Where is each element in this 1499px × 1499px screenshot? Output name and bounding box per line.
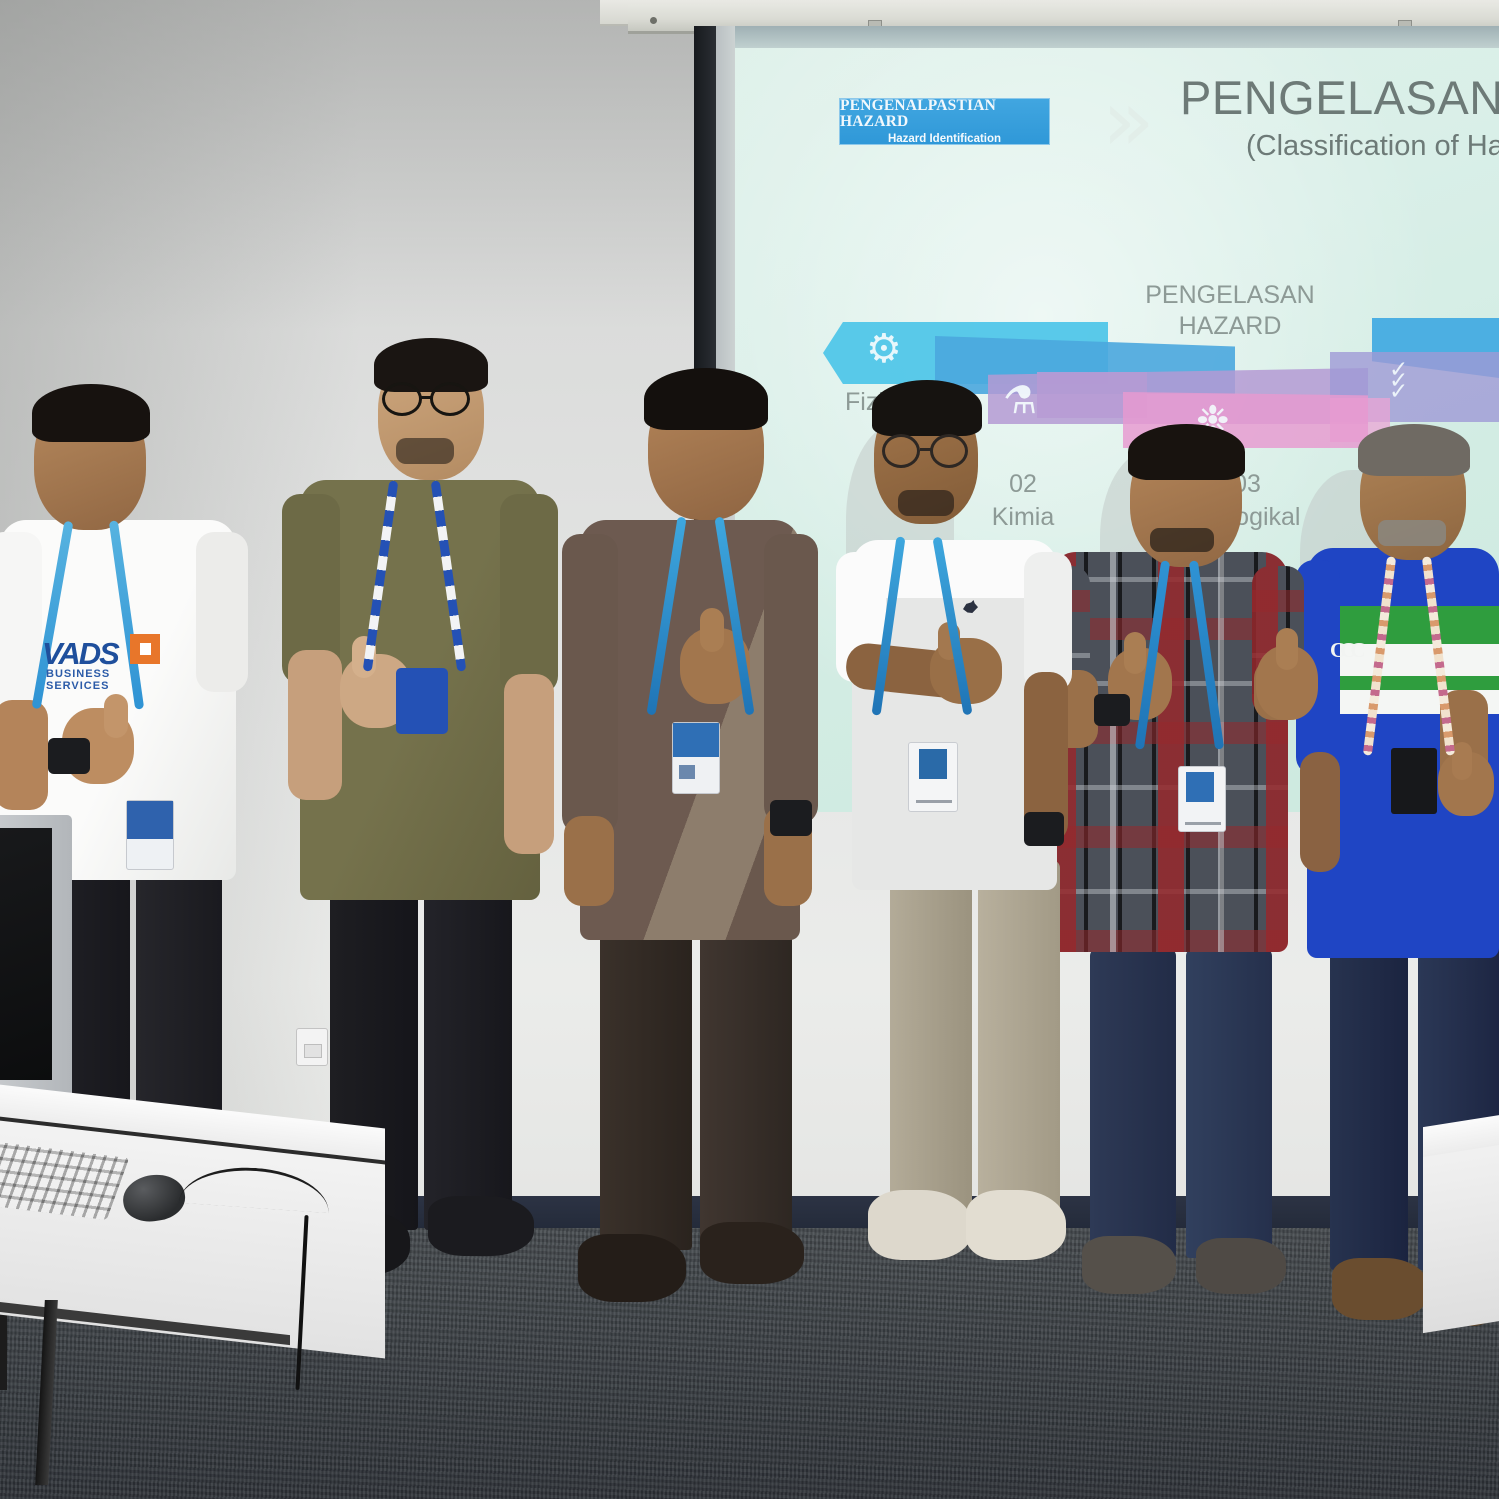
hair [644,368,768,430]
shoe [578,1234,686,1302]
thumb [1276,628,1298,670]
casing-screw [650,17,657,24]
hazard-identification-badge: PENGENALPASTIAN HAZARD Hazard Identifica… [839,98,1050,145]
training-room-photo: PENGENALPASTIAN HAZARD Hazard Identifica… [0,0,1499,1499]
desk-right-top [1423,1129,1499,1333]
slide-category-label-2: 02 Kimia [975,468,1071,534]
arm [196,532,248,692]
slide-heading-en: (Classification of Hazard) [1246,130,1499,163]
id-badge [908,742,958,812]
leg [1186,948,1272,1258]
leg [890,860,972,1230]
thumb [1452,742,1472,780]
category-name-2: Kimia [992,503,1055,531]
eyeglasses-bridge [920,448,932,451]
badge-line [1185,822,1221,825]
wall-power-outlet[interactable] [296,1028,328,1066]
monitor-display [0,828,52,1080]
shoe [1196,1238,1286,1294]
hair [1128,424,1245,480]
eyeglasses-left-lens [882,434,920,468]
id-badge-holder [396,668,448,734]
leg [978,860,1060,1230]
eyeglasses-right-lens [930,434,968,468]
id-badge [672,722,720,794]
hair [872,380,982,436]
sneaker [868,1190,972,1260]
ergonomic-icon: ✓✓✓ [1389,365,1406,398]
leg [424,870,512,1230]
ccc-logo: CCC [1330,638,1361,663]
shoe [1082,1236,1176,1294]
beard [1150,528,1214,552]
badge-photo [1186,772,1214,802]
hair [32,384,150,442]
leg [600,900,692,1250]
beard [898,490,954,516]
vads-logo-mark [130,634,160,664]
arm [764,534,818,824]
arm [562,534,618,834]
category-number-2: 02 [1009,470,1037,498]
eyeglasses-left-lens [382,382,422,416]
hair [1358,424,1470,476]
shoe [700,1222,804,1284]
beard [1378,520,1446,546]
gear-icon: ⚙ [866,326,902,372]
forearm [1300,752,1340,872]
badge-header [127,801,173,839]
badge-line [916,800,952,803]
wrist-watch [1094,694,1130,726]
forearm [0,700,48,810]
thumb [104,694,128,738]
leg [1090,948,1176,1258]
shoe [428,1196,534,1256]
eyeglasses-bridge [420,396,432,399]
badge-title-ms: PENGENALPASTIAN HAZARD [840,98,1049,131]
forearm [288,650,342,800]
beard [396,438,454,464]
arm [1024,552,1072,692]
slide-heading-ms: PENGELASAN HAZARD [1180,70,1499,125]
vads-logo-subtext: BUSINESS SERVICES [46,668,110,692]
leg [1330,940,1408,1270]
badge-subtitle-en: Hazard Identification [888,133,1001,145]
id-badge [126,800,174,870]
badge-photo [919,749,947,779]
leg [700,900,792,1250]
chevron-right-icon: ›› [1102,82,1174,168]
flask-icon: ⚗ [1003,378,1037,422]
wall-shadow-top [0,0,760,330]
sneaker [966,1190,1066,1260]
eyeglasses-right-lens [430,382,470,416]
wrist-watch [770,800,812,836]
badge-header [673,723,719,757]
id-badge [1178,766,1226,832]
shoe [1332,1258,1428,1320]
thumb [700,608,724,652]
wrist-watch [1024,812,1064,846]
forearm [564,816,614,906]
slide-center-caption: PENGELASAN HAZARD [1110,280,1350,343]
badge-photo [679,765,695,779]
thumb [1124,632,1146,674]
id-badge [1391,748,1437,814]
arm [500,494,558,694]
screen-top-band [735,26,1499,50]
vads-logo-text: VADS [42,636,118,672]
wrist-watch [48,738,90,774]
forearm [504,674,554,854]
